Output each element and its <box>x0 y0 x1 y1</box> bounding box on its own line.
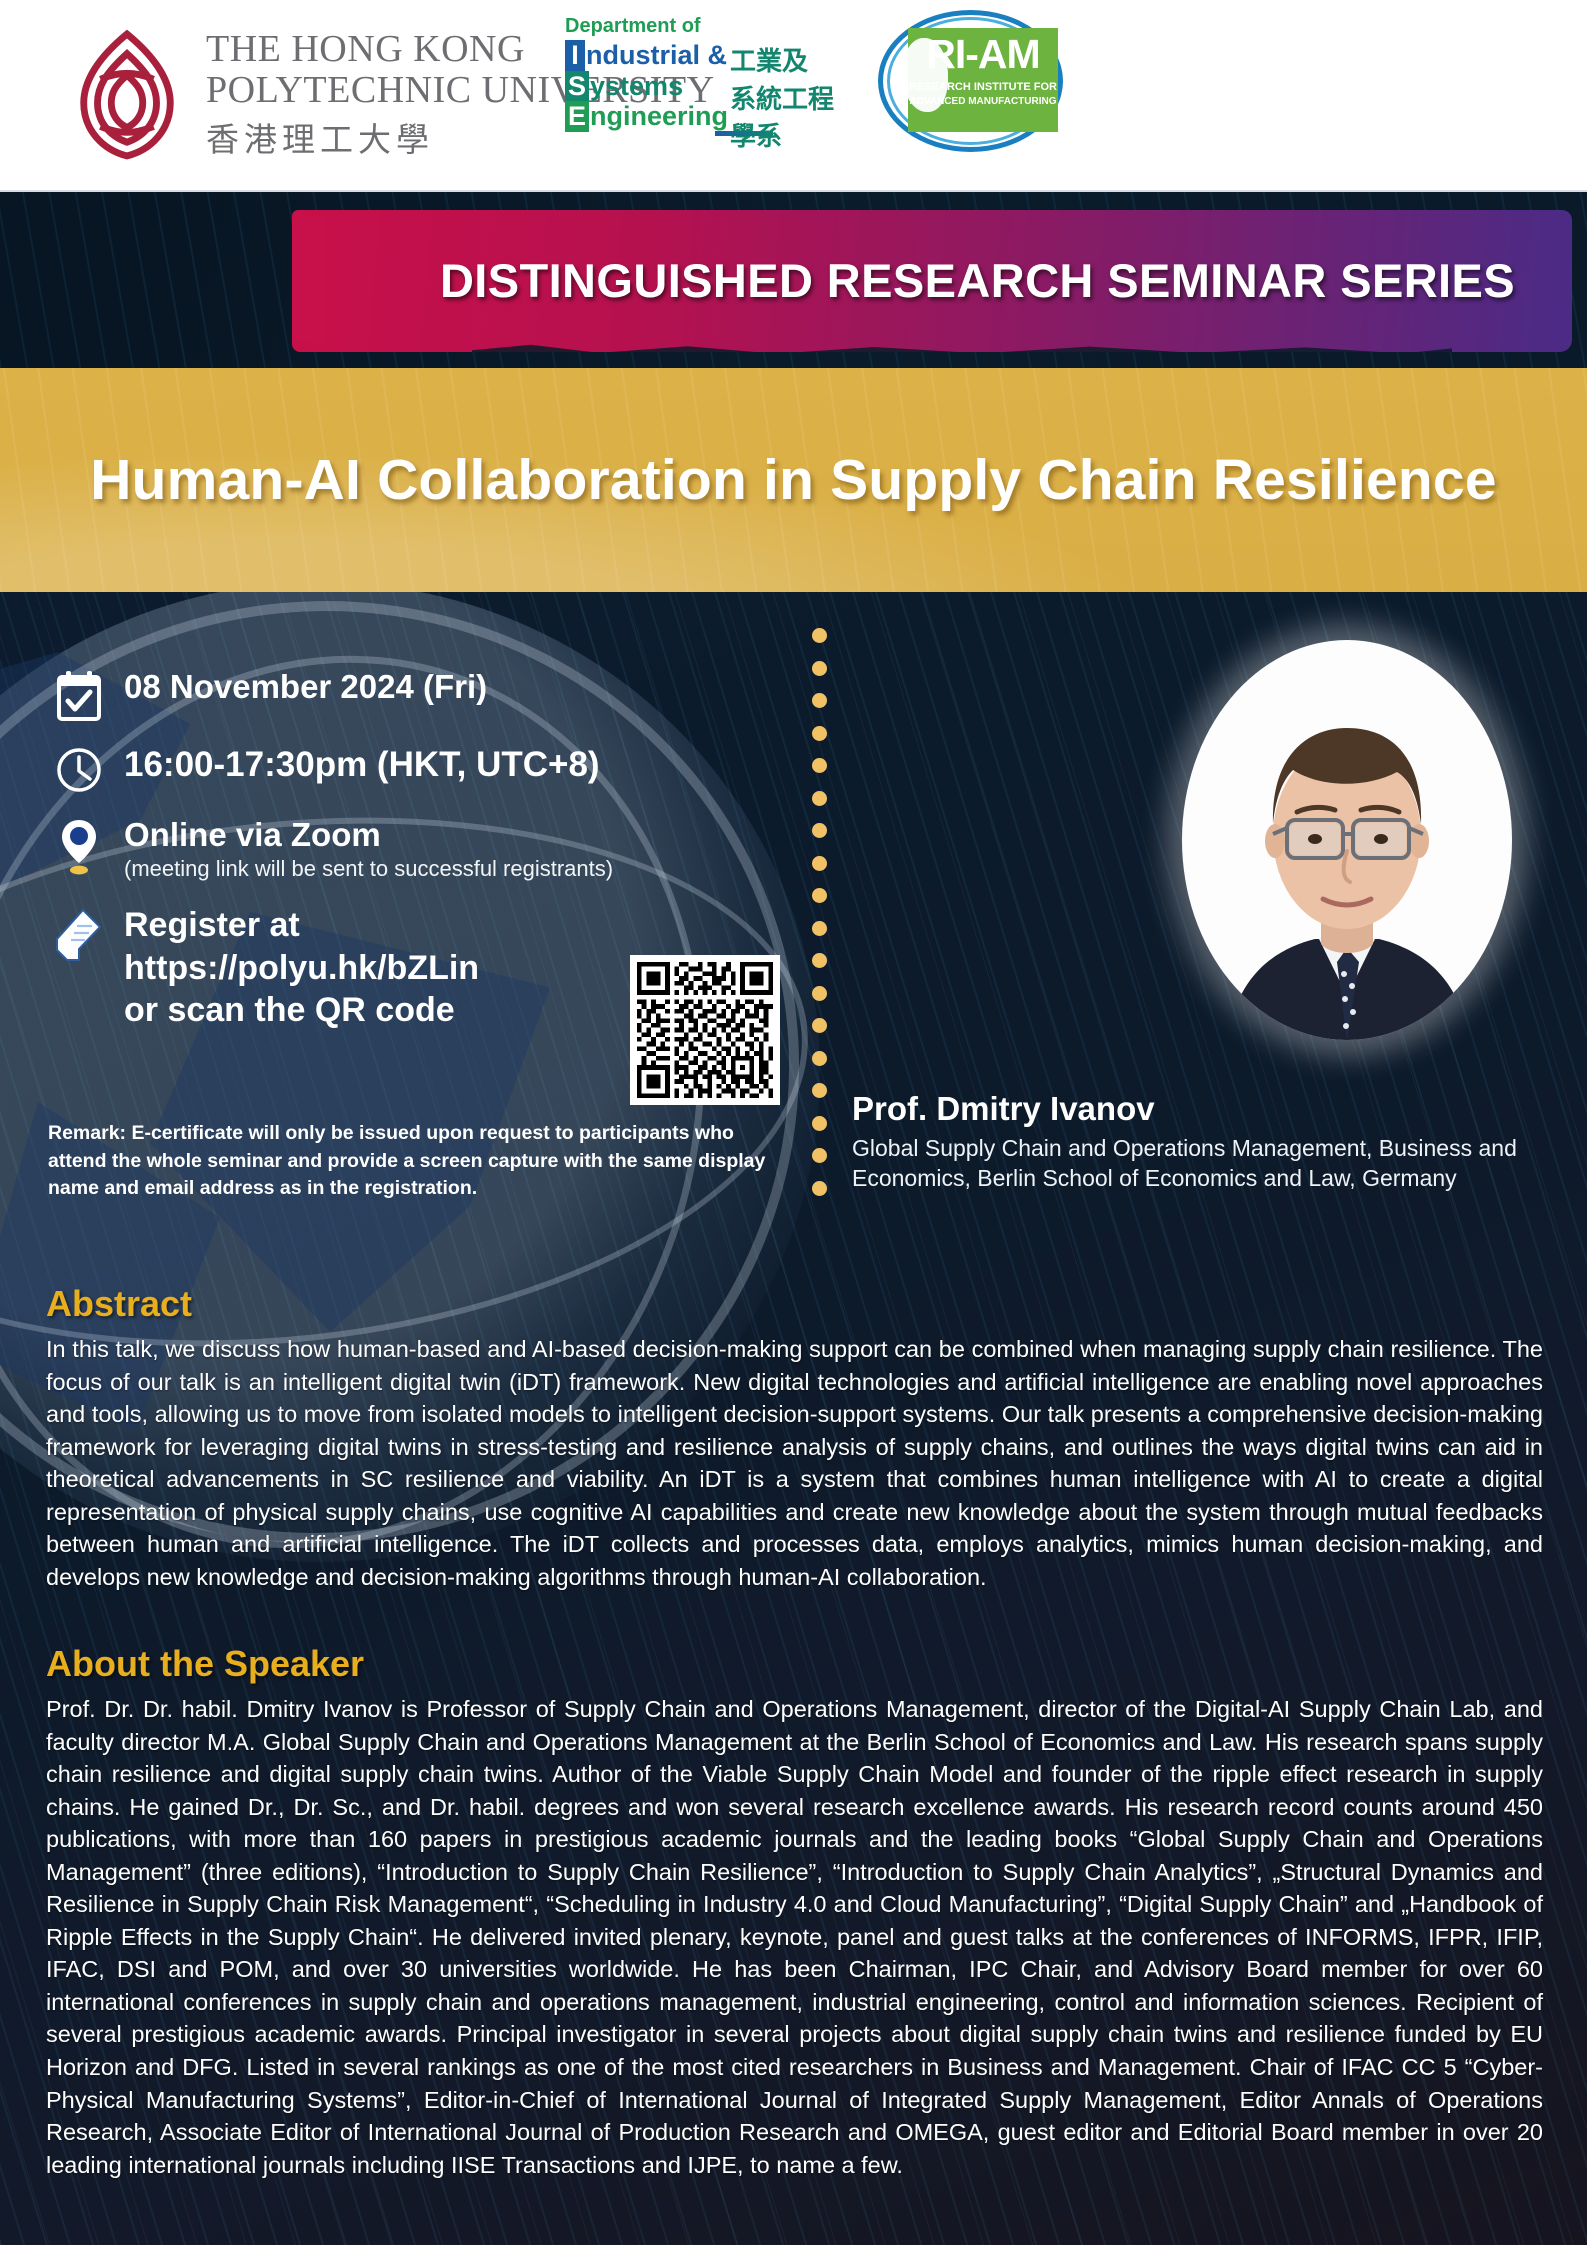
ise-chinese-line2: 系統工程 <box>730 82 834 120</box>
speaker-photo <box>1182 640 1512 1040</box>
divider-dot <box>812 1051 827 1066</box>
detail-row-date: 08 November 2024 (Fri) <box>48 668 768 722</box>
divider-dot <box>812 888 827 903</box>
clock-icon <box>48 744 110 794</box>
ise-initial-i: I <box>565 40 585 71</box>
polyu-emblem-icon <box>68 28 186 162</box>
detail-row-venue: Online via Zoom (meeting link will be se… <box>48 816 768 882</box>
detail-venue-text: Online via Zoom (meeting link will be se… <box>110 816 768 882</box>
divider-dot <box>812 1181 827 1196</box>
detail-time-text: 16:00-17:30pm (HKT, UTC+8) <box>110 744 768 785</box>
ise-divider-dash <box>715 131 773 136</box>
detail-date-text: 08 November 2024 (Fri) <box>110 668 768 707</box>
ise-department-logo: Department of I ndustrial & S ystems E n… <box>565 16 840 146</box>
abstract-section: Abstract In this talk, we discuss how hu… <box>46 1283 1543 1593</box>
series-banner: DISTINGUISHED RESEARCH SEMINAR SERIES <box>0 192 1587 368</box>
qr-code[interactable] <box>630 955 780 1105</box>
pointing-hand-icon <box>48 904 110 968</box>
calendar-check-icon <box>48 668 110 722</box>
register-url[interactable]: https://polyu.hk/bZLin <box>124 947 479 990</box>
divider-dot <box>812 1083 827 1098</box>
divider-dot <box>812 986 827 1001</box>
series-title: DISTINGUISHED RESEARCH SEMINAR SERIES <box>0 192 1587 368</box>
event-date: 08 November 2024 (Fri) <box>124 668 768 707</box>
register-line-1: Register at <box>124 904 479 947</box>
speaker-portrait-illustration <box>1197 696 1497 1040</box>
ise-word-systems: ystems <box>590 72 683 101</box>
divider-dot <box>812 693 827 708</box>
register-line-3: or scan the QR code <box>124 989 479 1032</box>
abstract-body: In this talk, we discuss how human-based… <box>46 1333 1543 1593</box>
seminar-title: Human-AI Collaboration in Supply Chain R… <box>90 447 1496 513</box>
divider-dot <box>812 1116 827 1131</box>
divider-dot <box>812 856 827 871</box>
ise-initial-e: E <box>565 101 589 132</box>
event-venue-note: (meeting link will be sent to successful… <box>124 856 768 882</box>
title-band: Human-AI Collaboration in Supply Chain R… <box>0 368 1587 592</box>
ise-word-industrial: ndustrial & <box>586 41 727 70</box>
event-venue: Online via Zoom <box>124 816 768 855</box>
divider-dot <box>812 823 827 838</box>
detail-row-time: 16:00-17:30pm (HKT, UTC+8) <box>48 744 768 794</box>
ise-chinese-block: 工業及 系統工程 學系 <box>730 44 834 157</box>
speaker-name: Prof. Dmitry Ivanov <box>852 1090 1552 1129</box>
ise-dept-label: Department of <box>565 16 840 36</box>
about-speaker-heading: About the Speaker <box>46 1643 1543 1685</box>
speaker-affiliation: Global Supply Chain and Operations Manag… <box>852 1133 1552 1194</box>
divider-dot <box>812 791 827 806</box>
about-speaker-section: About the Speaker Prof. Dr. Dr. habil. D… <box>46 1643 1543 2181</box>
divider-dot <box>812 1148 827 1163</box>
seminar-poster: THE HONG KONG POLYTECHNIC UNIVERSITY 香港理… <box>0 0 1587 2245</box>
speaker-photo-oval <box>1182 640 1512 1040</box>
qr-code-graphic <box>637 962 773 1098</box>
divider-dot <box>812 628 827 643</box>
ise-word-engineering: ngineering <box>590 102 728 131</box>
divider-dot <box>812 758 827 773</box>
divider-dot <box>812 661 827 676</box>
riam-logo: RI-AM RESEARCH INSTITUTE FOR ADVANCED MA… <box>878 10 1063 152</box>
event-time: 16:00-17:30pm (HKT, UTC+8) <box>124 744 768 785</box>
logo-bar: THE HONG KONG POLYTECHNIC UNIVERSITY 香港理… <box>0 0 1587 192</box>
remark-text: Remark: E-certificate will only be issue… <box>48 1120 770 1203</box>
ise-chinese-line1: 工業及 <box>730 44 834 82</box>
divider-dot <box>812 921 827 936</box>
ise-initial-s: S <box>565 71 589 102</box>
registration-text: Register at https://polyu.hk/bZLin or sc… <box>110 904 479 1032</box>
about-speaker-body: Prof. Dr. Dr. habil. Dmitry Ivanov is Pr… <box>46 1693 1543 2181</box>
riam-globe-icon <box>902 38 948 112</box>
location-pin-icon <box>48 816 110 876</box>
abstract-heading: Abstract <box>46 1283 1543 1325</box>
divider-dot <box>812 953 827 968</box>
divider-dot <box>812 726 827 741</box>
ise-chinese-line3: 學系 <box>730 119 834 157</box>
dotted-divider <box>812 628 838 1208</box>
speaker-info: Prof. Dmitry Ivanov Global Supply Chain … <box>852 1090 1552 1194</box>
divider-dot <box>812 1018 827 1033</box>
